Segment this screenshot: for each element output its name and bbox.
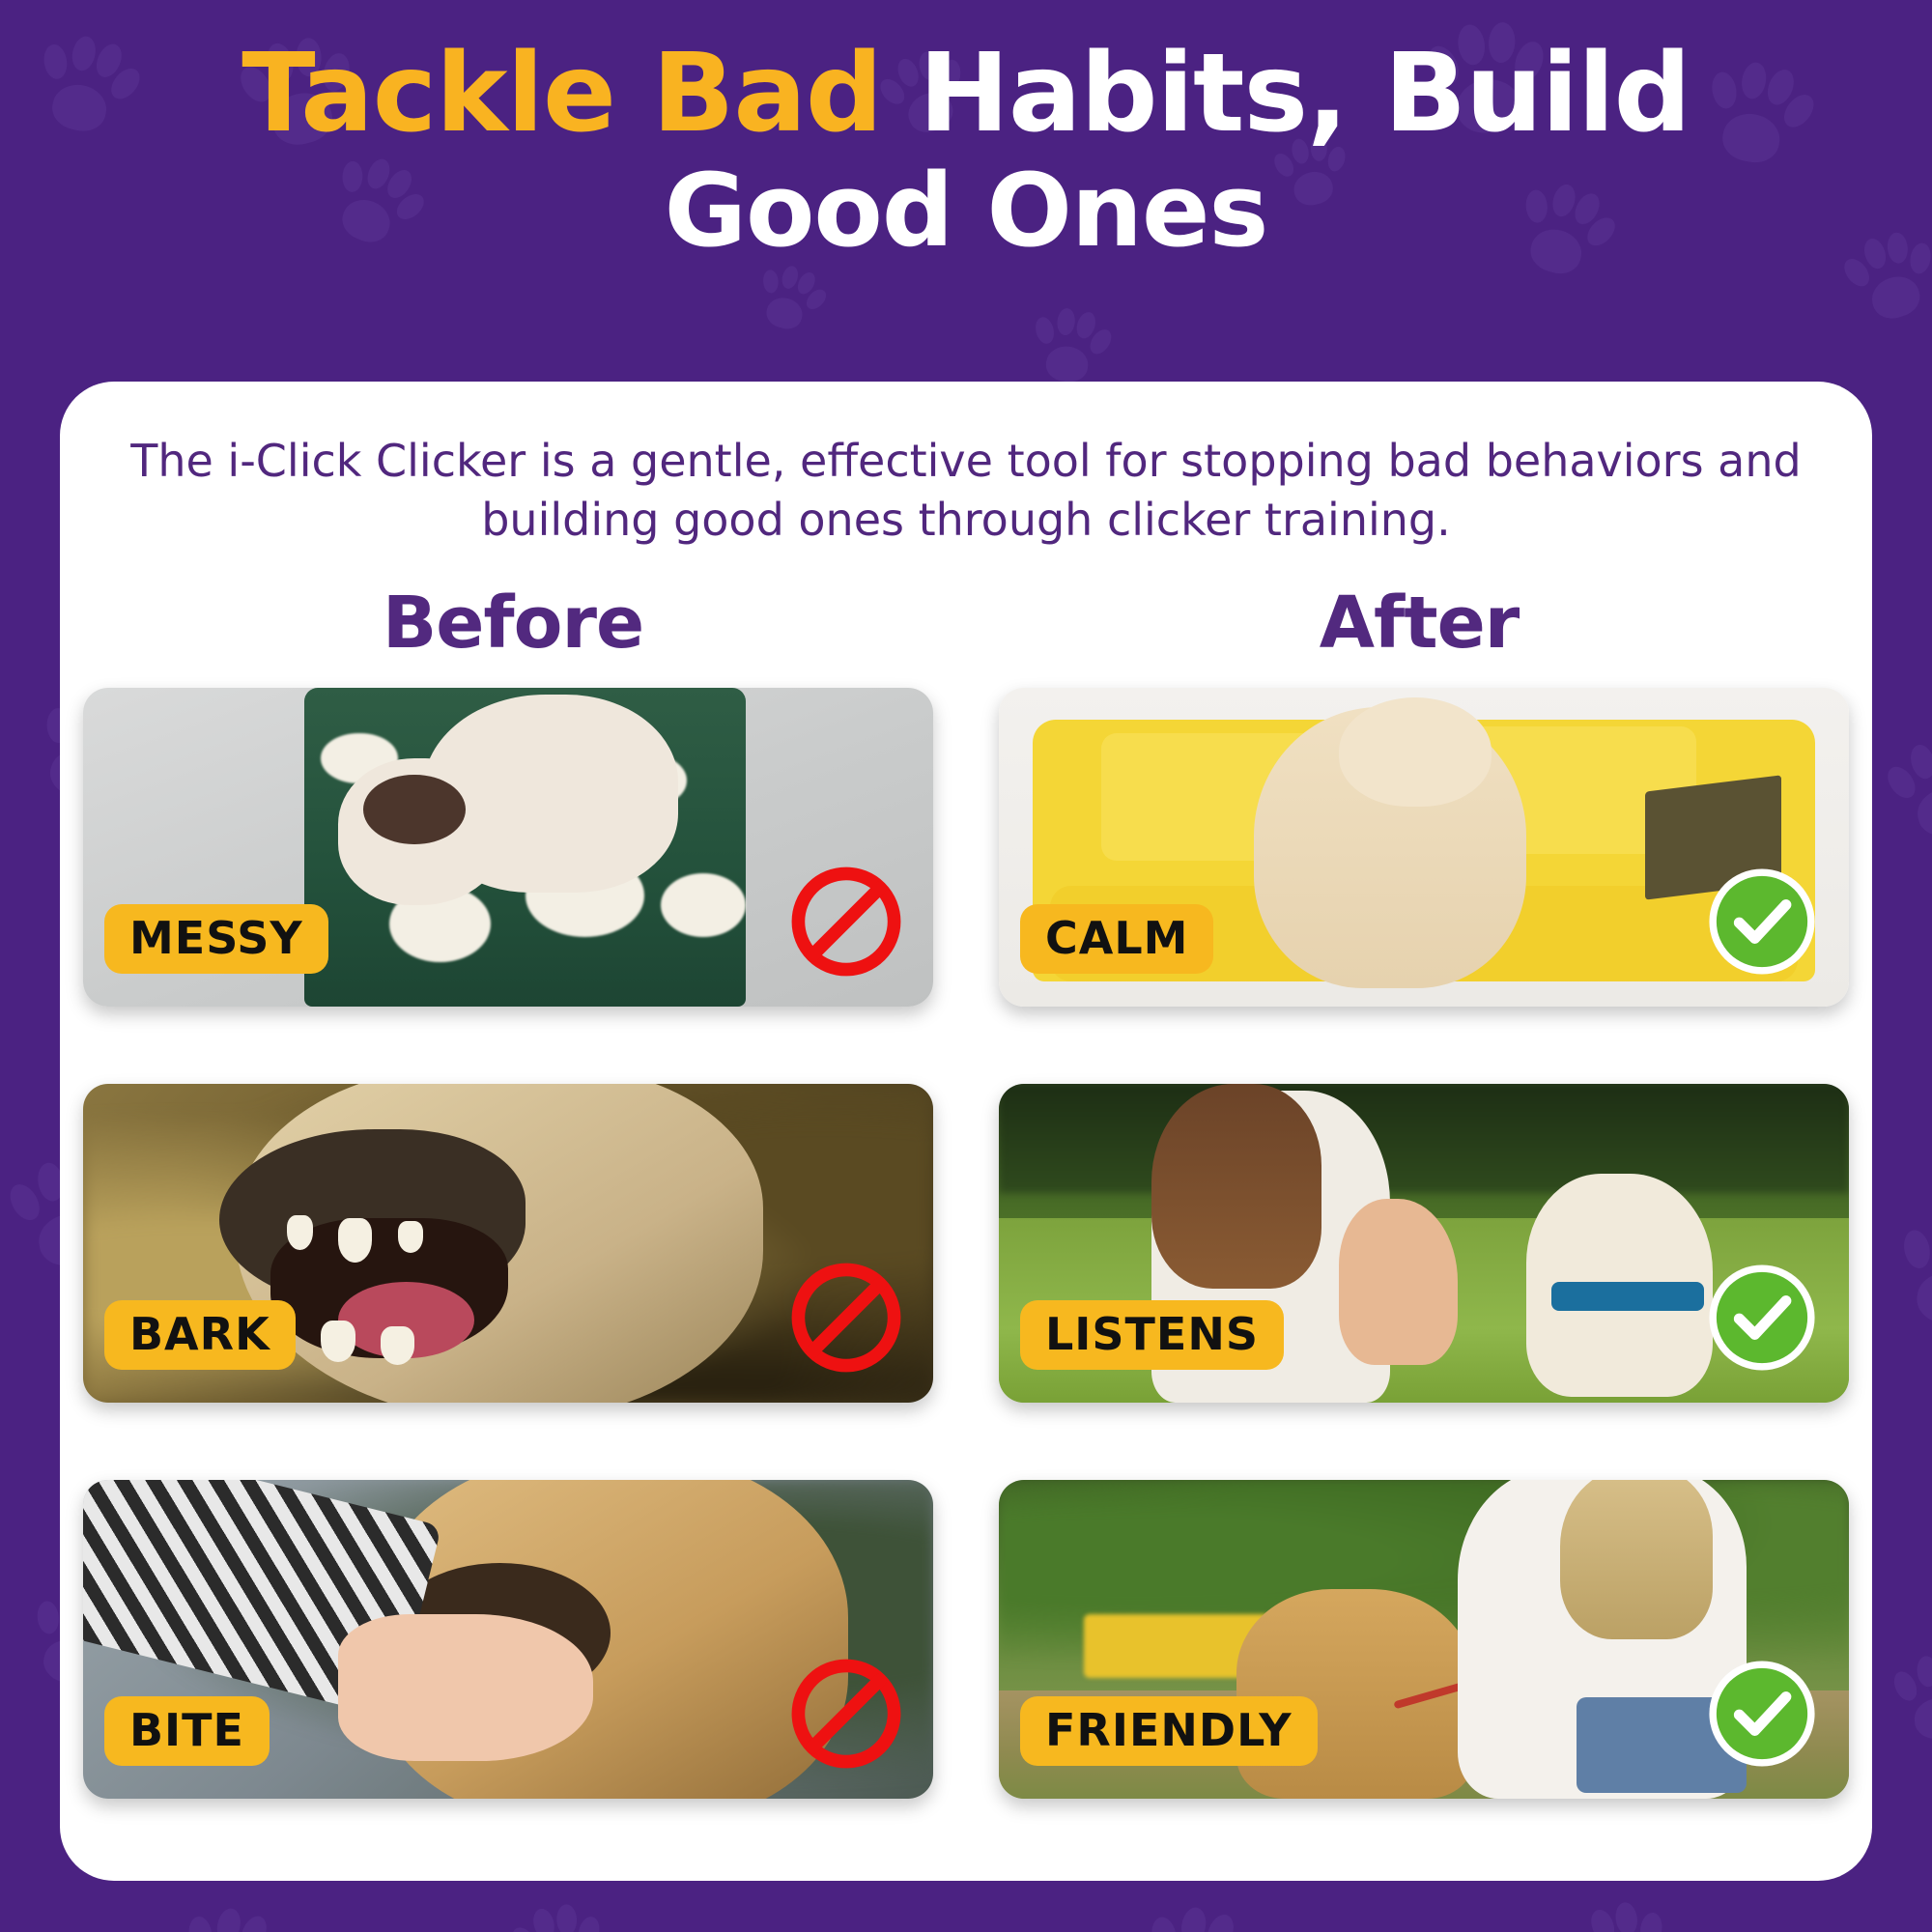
page-title-line-1: Tackle Bad Habits, Build <box>0 37 1932 152</box>
header: Tackle Bad Habits, Build Good Ones <box>0 37 1932 264</box>
column-headings: Before After <box>60 582 1872 665</box>
paw-print-icon <box>1026 303 1108 392</box>
title-accent-text: Tackle Bad <box>241 31 882 156</box>
label-badge: BITE <box>104 1696 270 1766</box>
paw-print-icon <box>1888 1650 1932 1751</box>
paw-print-icon <box>1559 1891 1678 1932</box>
check-icon <box>1702 862 1822 981</box>
label-badge: CALM <box>1020 904 1213 974</box>
check-icon <box>1702 1258 1822 1378</box>
prohibited-icon <box>786 862 906 981</box>
comparison-cell-before-messy[interactable]: MESSY <box>83 688 933 1007</box>
label-badge: FRIENDLY <box>1020 1696 1318 1766</box>
paw-print-icon <box>1134 1898 1253 1932</box>
label-badge: LISTENS <box>1020 1300 1284 1370</box>
title-plain-text: Habits, Build <box>882 31 1690 156</box>
intro-paragraph: The i-Click Clicker is a gentle, effecti… <box>118 432 1814 549</box>
check-icon <box>1702 1654 1822 1774</box>
comparison-cell-before-bark[interactable]: BARK <box>83 1084 933 1403</box>
label-badge: MESSY <box>104 904 328 974</box>
paw-print-icon <box>747 257 827 341</box>
paw-print-icon <box>1888 1210 1932 1340</box>
comparison-cell-after-calm[interactable]: CALM <box>999 688 1849 1007</box>
paw-print-icon <box>503 1896 609 1932</box>
column-heading-before: Before <box>60 582 966 665</box>
page-title-line-2: Good Ones <box>0 157 1932 264</box>
paw-print-icon <box>169 1898 284 1932</box>
column-heading-after: After <box>966 582 1872 665</box>
prohibited-icon <box>786 1258 906 1378</box>
comparison-grid: MESSY CALM <box>83 688 1849 1799</box>
comparison-cell-after-listens[interactable]: LISTENS <box>999 1084 1849 1403</box>
content-card: The i-Click Clicker is a gentle, effecti… <box>60 382 1872 1881</box>
comparison-cell-before-bite[interactable]: BITE <box>83 1480 933 1799</box>
prohibited-icon <box>786 1654 906 1774</box>
comparison-cell-after-friendly[interactable]: FRIENDLY <box>999 1480 1849 1799</box>
label-badge: BARK <box>104 1300 296 1370</box>
paw-print-icon <box>1877 728 1932 855</box>
